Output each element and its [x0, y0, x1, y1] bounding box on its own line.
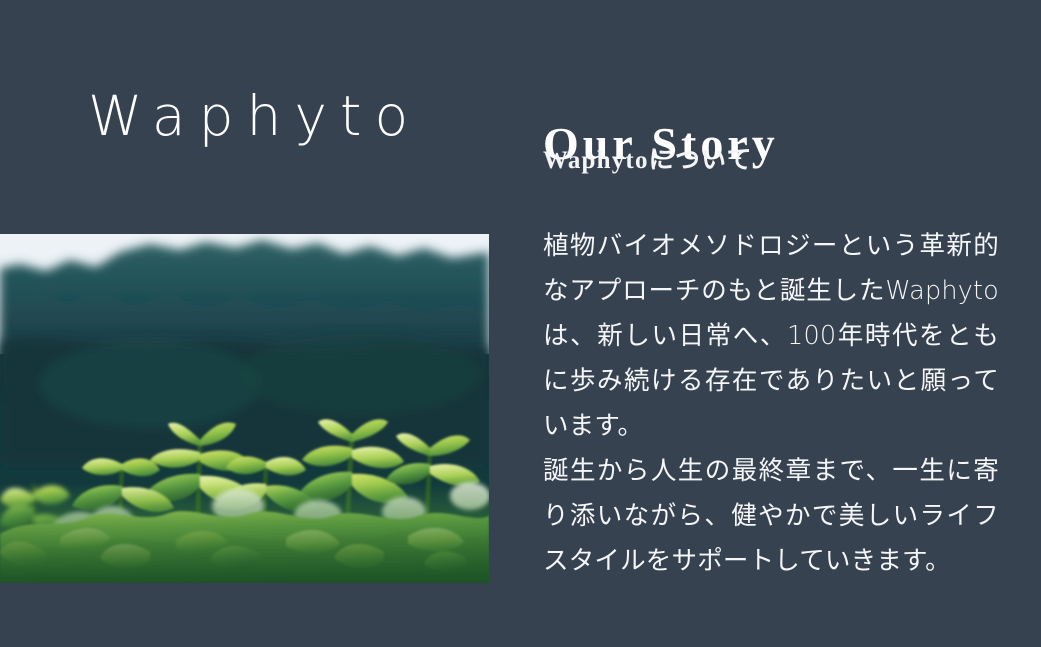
story-body: 植物バイオメソドロジーという革新的なアプローチのもと誕生したWaphytoは、新…: [543, 224, 999, 584]
story-paragraph-2: 誕生から人生の最終章まで、一生に寄り添いながら、健やかで美しいライフスタイルをサ…: [543, 449, 999, 584]
story-subtitle: Waphytoについて: [543, 144, 753, 178]
story-text-column: Our Story Waphytoについて 植物バイオメソドロジーという革新的な…: [543, 0, 999, 647]
hero-photo: [0, 234, 489, 583]
brand-logo: Waphyto: [88, 78, 488, 154]
our-story-section: Waphyto: [0, 0, 1041, 647]
story-paragraph-1: 植物バイオメソドロジーという革新的なアプローチのもと誕生したWaphytoは、新…: [543, 224, 999, 449]
